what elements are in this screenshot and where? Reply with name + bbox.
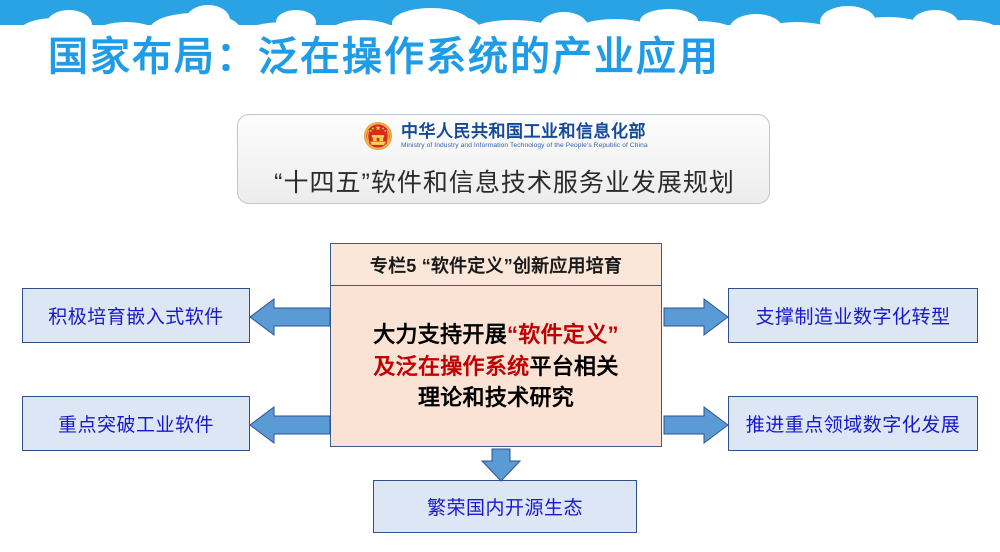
center-box-header-text: 专栏5 “软件定义”创新应用培育 — [370, 252, 622, 278]
ministry-name-en: Ministry of Industry and Information Tec… — [401, 142, 648, 150]
slide-canvas: 国家布局：泛在操作系统的产业应用 中华人民共和国 — [0, 0, 1000, 552]
center-line2-plain: 平台相关 — [529, 354, 618, 379]
arrow-right-icon — [662, 296, 730, 338]
leaf-label: 推进重点领域数字化发展 — [746, 410, 961, 437]
arrow-right-icon — [662, 404, 730, 446]
leaf-box-manufacturing-digital[interactable]: 支撑制造业数字化转型 — [728, 288, 978, 343]
center-line1-plain: 大力支持开展 — [373, 322, 507, 347]
leaf-box-key-domain-digital[interactable]: 推进重点领域数字化发展 — [728, 396, 978, 451]
cloud-puff — [276, 10, 316, 34]
center-box-header: 专栏5 “软件定义”创新应用培育 — [331, 244, 661, 286]
arrow-down-icon — [477, 447, 525, 483]
page-title: 国家布局：泛在操作系统的产业应用 — [48, 33, 720, 81]
policy-document-title: “十四五”软件和信息技术服务业发展规划 — [238, 163, 771, 199]
center-box-body: 大力支持开展“软件定义” 及泛在操作系统平台相关 理论和技术研究 — [331, 286, 661, 447]
leaf-box-embedded-software[interactable]: 积极培育嵌入式软件 — [22, 288, 250, 343]
policy-document-card: 中华人民共和国工业和信息化部 Ministry of Industry and … — [237, 114, 770, 204]
ministry-brand: 中华人民共和国工业和信息化部 Ministry of Industry and … — [238, 121, 771, 151]
leaf-label: 积极培育嵌入式软件 — [48, 302, 224, 329]
ministry-name-block: 中华人民共和国工业和信息化部 Ministry of Industry and … — [401, 122, 646, 149]
cloud-puff — [186, 5, 230, 35]
center-line2-highlight: 及泛在操作系统 — [373, 354, 529, 379]
china-national-emblem-icon — [363, 121, 393, 151]
ministry-name-cn: 中华人民共和国工业和信息化部 — [401, 122, 646, 142]
leaf-label: 繁荣国内开源生态 — [427, 493, 583, 520]
leaf-label: 重点突破工业软件 — [58, 410, 214, 437]
center-main-box: 专栏5 “软件定义”创新应用培育 大力支持开展“软件定义” 及泛在操作系统平台相… — [330, 243, 662, 447]
cloud-puff — [930, 20, 1000, 38]
center-box-body-text: 大力支持开展“软件定义” 及泛在操作系统平台相关 理论和技术研究 — [373, 319, 619, 415]
leaf-label: 支撑制造业数字化转型 — [755, 302, 950, 329]
arrow-left-icon — [248, 296, 332, 338]
center-line1-highlight: “软件定义” — [507, 322, 619, 347]
leaf-box-open-source-ecosystem[interactable]: 繁荣国内开源生态 — [373, 480, 637, 533]
leaf-box-industrial-software[interactable]: 重点突破工业软件 — [22, 396, 250, 451]
arrow-left-icon — [248, 404, 332, 446]
center-line3-plain: 理论和技术研究 — [418, 385, 574, 410]
